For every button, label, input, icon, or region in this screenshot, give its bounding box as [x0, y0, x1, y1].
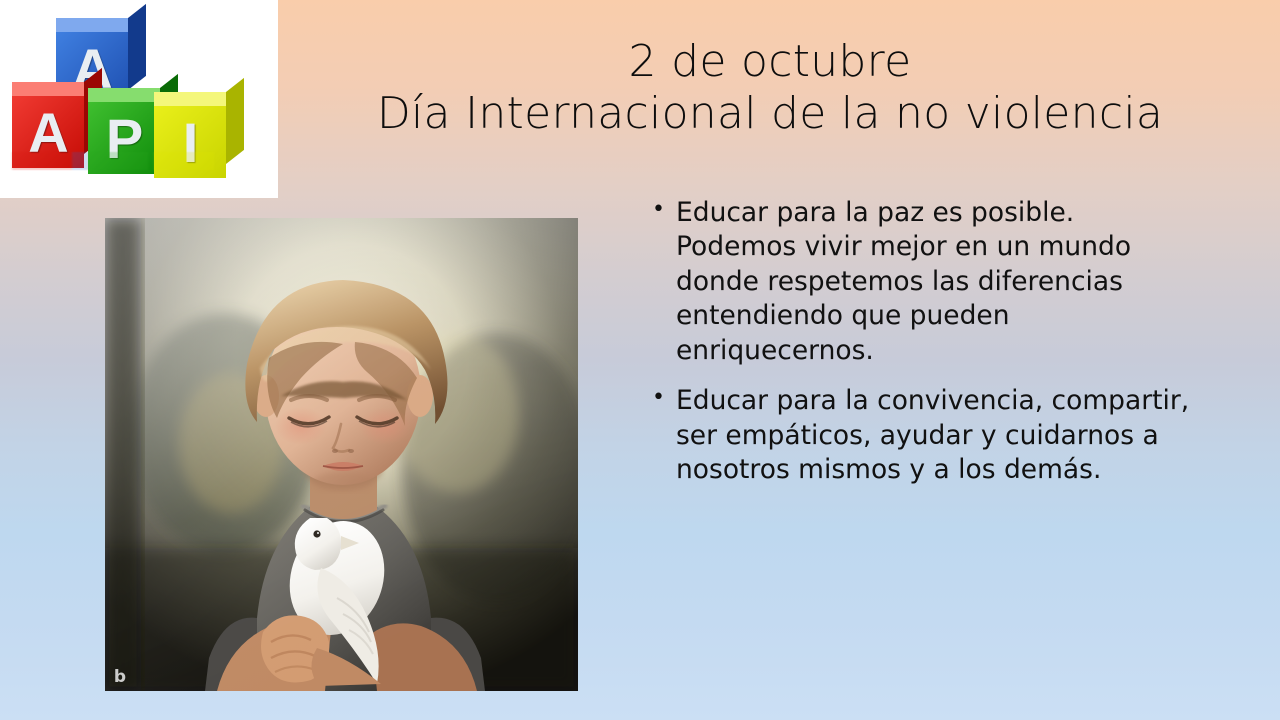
logo-plate: A A P I	[0, 0, 278, 198]
block-letter-p-green: P	[88, 102, 160, 174]
title-line-date: 2 de octubre	[290, 36, 1250, 88]
photo-boy-with-dove: b	[105, 218, 578, 691]
presentation-slide: A A P I 2 de octubre Día Internacional d…	[0, 0, 1280, 720]
bing-watermark-icon: b	[109, 666, 131, 688]
block-letter-i-yellow: I	[154, 106, 226, 178]
logo-block-green: P	[88, 88, 160, 160]
block-side-face	[128, 4, 146, 90]
title-line-subject: Día Internacional de la no violencia	[290, 88, 1250, 140]
block-letter-a-red: A	[12, 96, 84, 168]
logo-block-red: A	[12, 82, 84, 154]
list-item: • Educar para la paz es posible. Podemos…	[652, 196, 1192, 368]
bullet-list: • Educar para la paz es posible. Podemos…	[652, 196, 1192, 504]
logo-block-yellow: I	[154, 92, 226, 164]
block-side-face	[226, 78, 244, 164]
page-title: 2 de octubre Día Internacional de la no …	[290, 36, 1250, 140]
bullet-icon: •	[652, 384, 676, 413]
bullet-icon: •	[652, 196, 676, 225]
list-item: • Educar para la convivencia, compartir,…	[652, 384, 1192, 487]
bullet-text-1: Educar para la paz es posible. Podemos v…	[676, 196, 1192, 368]
photo-illustration	[105, 218, 578, 691]
bullet-text-2: Educar para la convivencia, compartir, s…	[676, 384, 1192, 487]
